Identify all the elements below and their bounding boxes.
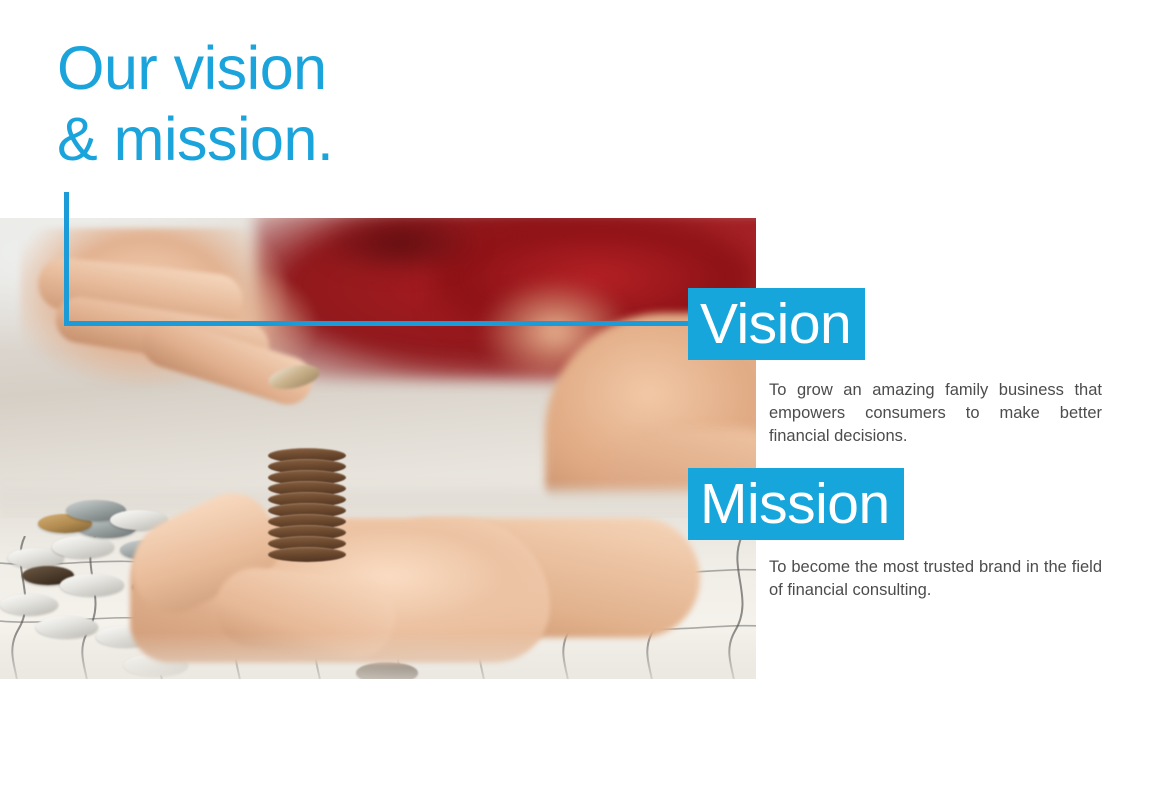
slide-canvas: Our vision & mission. [0, 0, 1153, 811]
mission-body-text: To become the most trusted brand in the … [769, 556, 1102, 602]
photo-shirt-shadow [300, 218, 500, 278]
bracket-vertical-line [64, 192, 69, 326]
page-title: Our vision & mission. [57, 33, 677, 175]
photo-coin [0, 594, 58, 615]
vision-body-text: To grow an amazing family business that … [769, 379, 1102, 448]
photo-bottom-fade [0, 633, 756, 679]
photo-coin [60, 574, 124, 596]
photo-coin-stack [268, 448, 346, 568]
vision-badge: Vision [688, 288, 865, 360]
bracket-horizontal-line [64, 321, 689, 326]
mission-badge: Mission [688, 468, 904, 540]
photo-coin [52, 536, 114, 558]
hero-photo [0, 218, 756, 679]
